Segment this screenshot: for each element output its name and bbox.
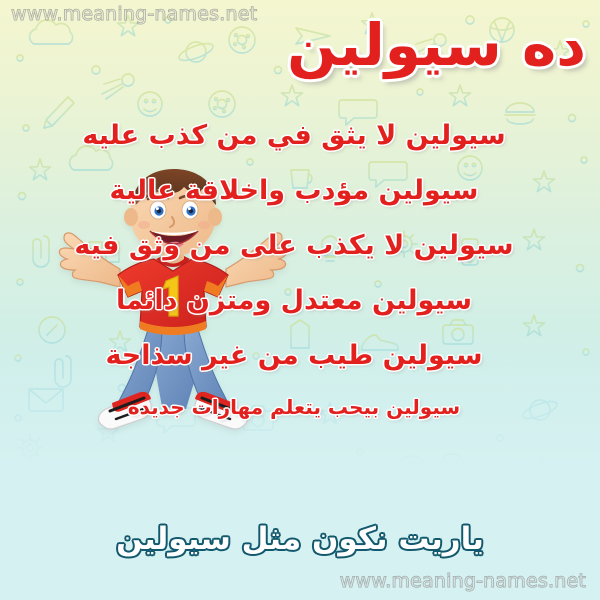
trait-line: سيولين مؤدب واخلاقة عالية <box>0 177 588 204</box>
trait-list: سيولين لا يثق في من كذب عليه سيولين مؤدب… <box>0 122 588 417</box>
watermark-bottom: www.meaning-names.net <box>340 570 586 592</box>
name-meaning-card: www.meaning-names.net ده سيولين سيولين ل… <box>0 0 600 600</box>
footer-phrase: ياريت نكون مثل سيولين <box>0 524 600 555</box>
trait-line: سيولين طيب من غير سذاجة <box>0 342 588 369</box>
trait-line: سيولين لا يكذب على من وثق فيه <box>0 232 588 259</box>
watermark-top: www.meaning-names.net <box>11 3 257 25</box>
trait-line: سيولين معتدل ومتزن دائما <box>0 287 588 314</box>
trait-line: سيولين بيحب يتعلم مهارات جديده <box>0 397 588 417</box>
trait-line: سيولين لا يثق في من كذب عليه <box>0 122 588 149</box>
page-title: ده سيولين <box>287 16 586 74</box>
